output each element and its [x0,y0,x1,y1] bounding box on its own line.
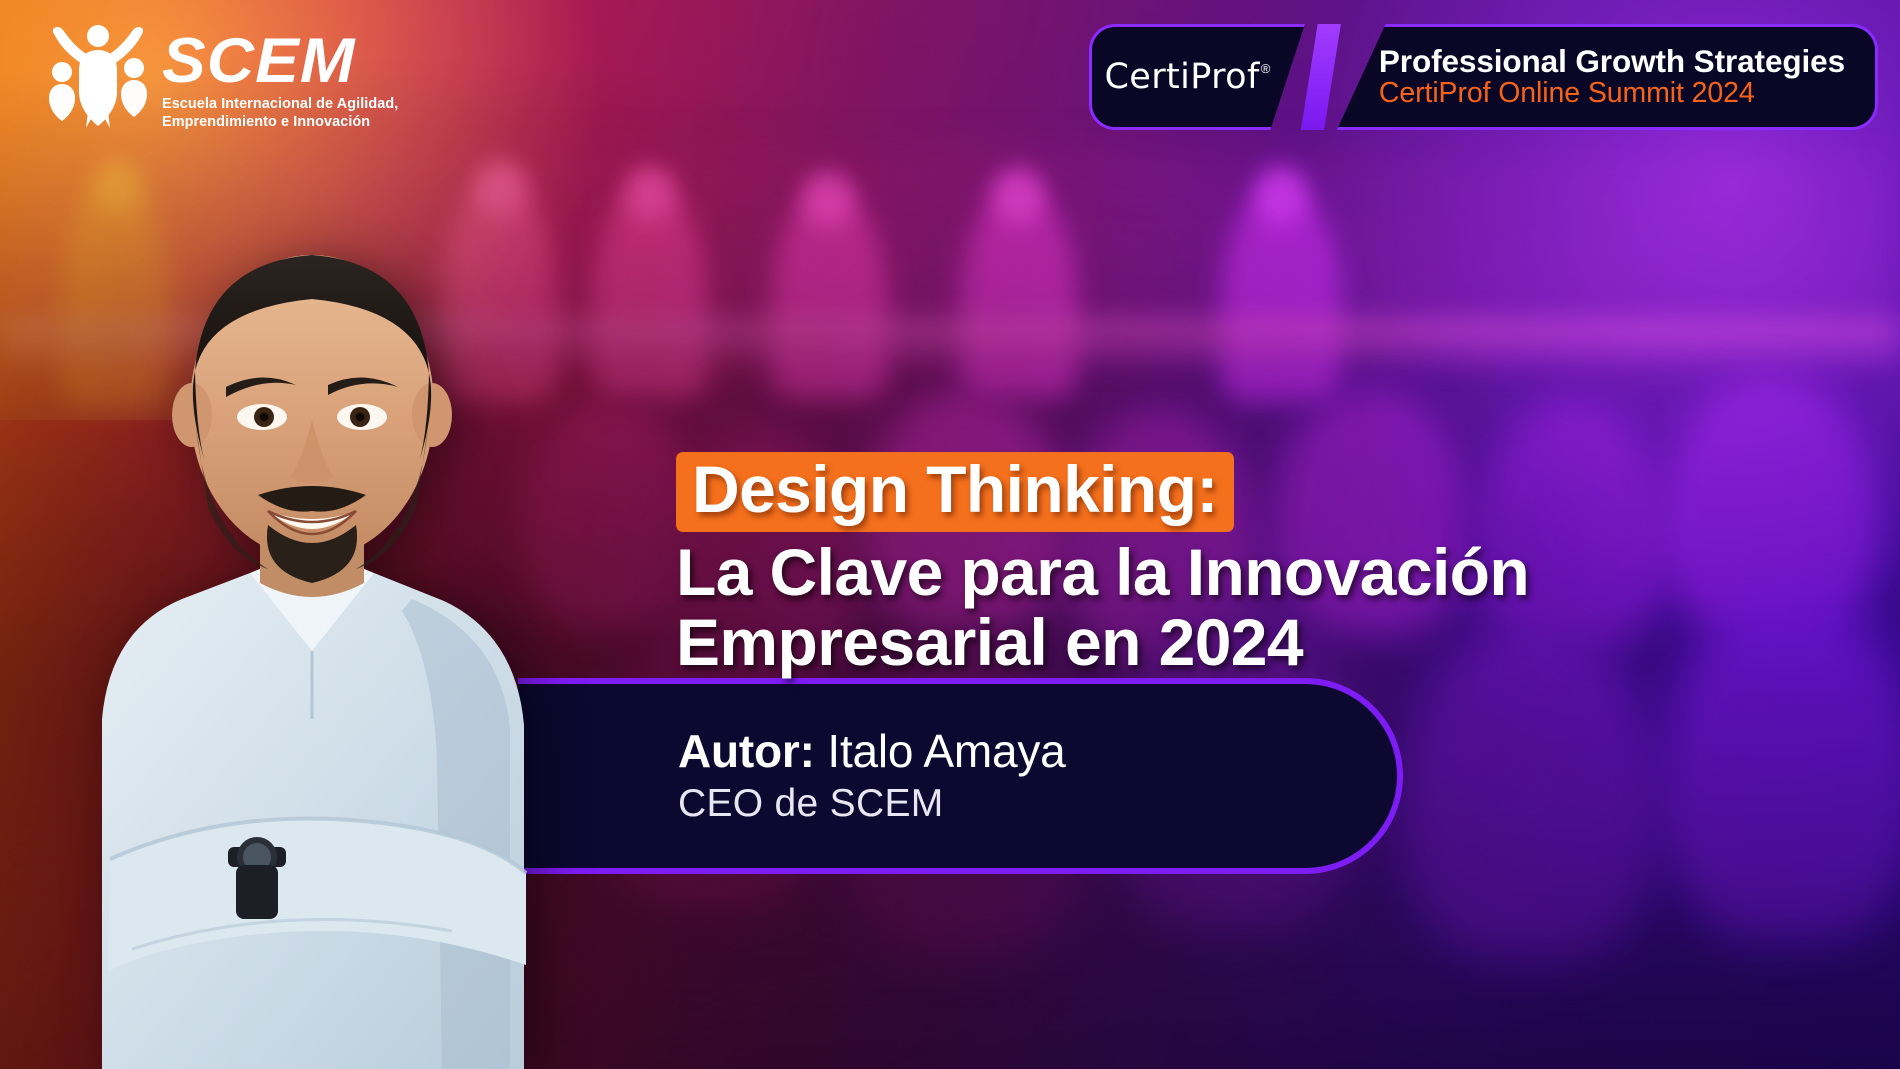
certiprof-logo: CertiProf ® [1104,60,1270,95]
author-panel: Autor: Italo Amaya CEO de SCEM [518,678,1403,874]
badge-diagonal-divider [1301,24,1341,130]
title-line-1-wrapper: Design Thinking: [676,452,1516,538]
certiprof-wordmark-text: CertiProf [1104,60,1259,95]
scem-wordmark: SCEM [162,34,408,88]
summit-subheadline: CertiProf Online Summit 2024 [1379,78,1845,110]
scem-tagline-line-2: Emprendimiento e Innovación [162,113,398,131]
summit-headline: Professional Growth Strategies [1379,44,1845,78]
author-name: Italo Amaya [827,725,1065,777]
speaker-photo [0,159,642,1069]
registered-trademark-icon: ® [1261,62,1271,75]
author-name-line: Autor: Italo Amaya [678,726,1397,778]
author-role: CEO de SCEM [678,783,1397,826]
title-line-3: Empresarial en 2024 [676,608,1516,678]
scem-logo: SCEM Escuela Internacional de Agilidad, … [46,22,398,131]
scem-wordmark-group: SCEM Escuela Internacional de Agilidad, … [162,22,398,131]
author-label: Autor: [678,725,815,777]
certiprof-summit-badge: CertiProf ® Professional Growth Strategi… [1089,24,1878,130]
slide-title: Design Thinking: La Clave para la Innova… [676,452,1516,678]
scem-tagline: Escuela Internacional de Agilidad, Empre… [162,95,398,131]
presentation-slide: SCEM Escuela Internacional de Agilidad, … [0,0,1900,1069]
title-line-2: La Clave para la Innovación [676,538,1516,608]
title-line-1: Design Thinking: [676,452,1234,532]
certiprof-logo-panel: CertiProf ® [1089,24,1305,130]
scem-people-logo-icon [46,20,150,128]
scem-tagline-line-1: Escuela Internacional de Agilidad, [162,95,398,113]
summit-title-panel: Professional Growth Strategies CertiProf… [1337,24,1878,130]
